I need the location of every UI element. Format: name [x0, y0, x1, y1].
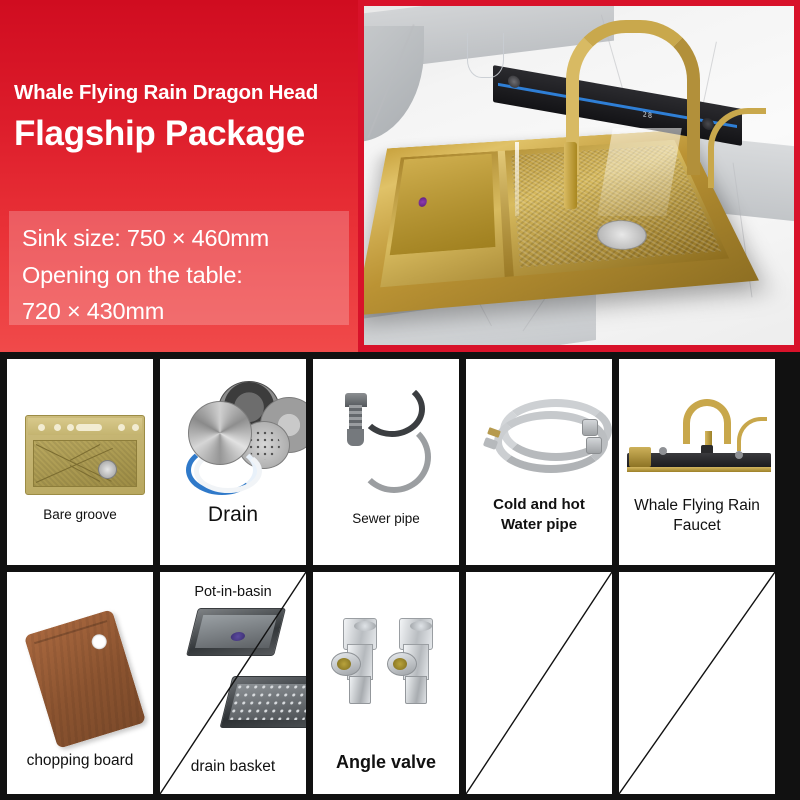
grid-edge [775, 572, 782, 794]
grid-gap [459, 572, 466, 794]
angle-valve-icon-2 [393, 618, 437, 710]
valve-outlet [349, 676, 371, 704]
hero-subtitle: Whale Flying Rain Dragon Head [14, 82, 358, 105]
spec-opening-label: Opening on the table: [22, 264, 243, 288]
sink-basin [33, 440, 137, 487]
valve-handle [387, 652, 417, 676]
faucet-end-block [629, 447, 651, 467]
sink-icon [25, 415, 145, 495]
valve-nut-top [354, 621, 376, 631]
hose-nut [586, 437, 602, 454]
sink-hole [38, 424, 45, 431]
chopping-board-icon [24, 609, 146, 749]
glass-rinser [467, 33, 503, 78]
sink-hole [118, 424, 125, 431]
cell-sewer-pipe[interactable]: Sewer pipe [313, 359, 459, 565]
cell-label: Angle valve [313, 752, 459, 772]
faucet-knob [659, 447, 667, 455]
cell-label-line2: Faucet [619, 517, 775, 534]
grid-edge [0, 359, 7, 565]
empty-slash-icon [466, 572, 612, 794]
water-stream [515, 142, 519, 217]
purple-drain-marker [418, 197, 428, 207]
grid-gap [153, 572, 160, 794]
cell-bare-groove[interactable]: Bare groove [7, 359, 153, 565]
spec-opening-size: 720 × 430mm [22, 300, 164, 324]
board-hanging-hole [90, 632, 109, 651]
hero-product-photo: 28 [358, 0, 800, 352]
spec-box: Sink size: 750 × 460mm Opening on the ta… [9, 211, 349, 325]
grid-gap [153, 359, 160, 565]
product-package-infographic: Whale Flying Rain Dragon Head Flagship P… [0, 0, 800, 800]
cell-label: Drain [160, 503, 306, 527]
grid-edge [0, 572, 7, 794]
cell-label: Bare groove [7, 507, 153, 522]
gold-faucet-stem [564, 142, 577, 210]
valve-handle [331, 652, 361, 676]
accessories-row-2: chopping board Pot-in-basin drain basket [0, 572, 800, 794]
cell-faucet[interactable]: Whale Flying Rain Faucet [619, 359, 775, 565]
valve-handle-center [393, 658, 407, 670]
grid-gap [306, 572, 313, 794]
cell-drain[interactable]: Drain [160, 359, 306, 565]
marble-countertop-scene: 28 [364, 6, 794, 345]
cell-label: chopping board [7, 752, 153, 769]
grid-gap [612, 572, 619, 794]
cell-label-line2: Water pipe [466, 517, 612, 534]
cell-label-bottom: drain basket [160, 758, 306, 775]
cell-chopping-board[interactable]: chopping board [7, 572, 153, 794]
perspective-line [70, 444, 100, 461]
sewer-pipe-lower-tube [357, 421, 431, 493]
faucet-knob [735, 451, 743, 459]
cell-angle-valve[interactable]: Angle valve [313, 572, 459, 794]
sink-small-basin [389, 154, 495, 255]
hose-nut [582, 419, 598, 436]
spec-sink-size: Sink size: 750 × 460mm [22, 227, 269, 251]
sink-hole [132, 424, 139, 431]
accessories-row-1: Bare groove Drain [0, 359, 800, 565]
accessories-grid: Bare groove Drain [0, 352, 800, 800]
hero-title: Flagship Package [14, 114, 358, 154]
cell-label-line1: Whale Flying Rain [619, 497, 775, 514]
empty-slash-icon [619, 572, 775, 794]
grid-edge [775, 359, 782, 565]
cell-label: Sewer pipe [313, 511, 459, 526]
hero-banner: Whale Flying Rain Dragon Head Flagship P… [0, 0, 800, 352]
sink-slot [76, 424, 102, 431]
cell-label-line1: Cold and hot [466, 497, 612, 514]
angle-valve-icon [337, 618, 381, 710]
sink-ledge [28, 418, 142, 435]
faucet-gold-strip [627, 467, 771, 472]
drain-disc-flat [188, 401, 252, 465]
drain-icon [98, 460, 117, 479]
cell-empty-1[interactable] [466, 572, 612, 794]
cell-pot-and-basket[interactable]: Pot-in-basin drain basket [160, 572, 306, 794]
valve-handle-center [337, 658, 351, 670]
sink-hole [67, 424, 74, 431]
sink-hole [54, 424, 61, 431]
valve-outlet [405, 676, 427, 704]
cell-water-pipe[interactable]: Cold and hot Water pipe [466, 359, 612, 565]
grid-gap [306, 359, 313, 565]
grid-gap [612, 359, 619, 565]
cell-empty-2[interactable] [619, 572, 775, 794]
valve-nut-top [410, 621, 432, 631]
faucet-side-sprayer [737, 417, 767, 451]
grid-gap [459, 359, 466, 565]
